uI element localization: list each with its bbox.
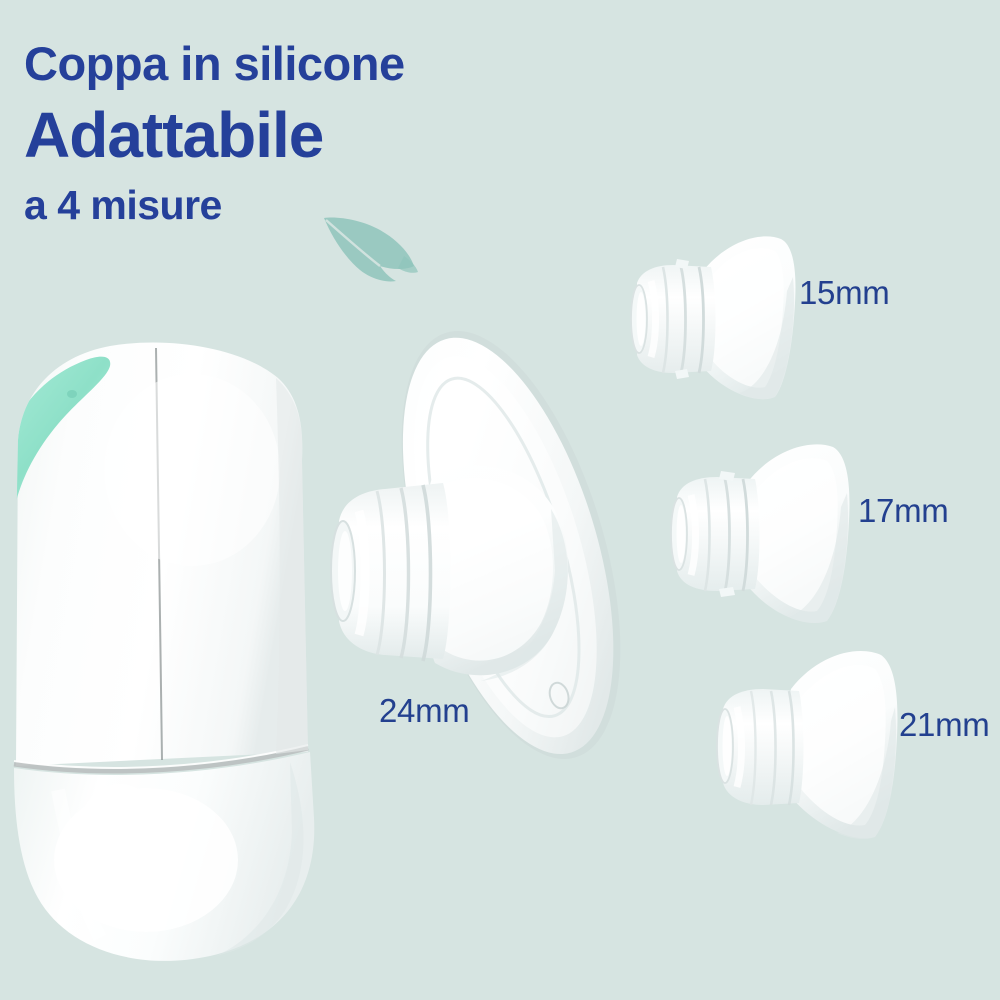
size-label-17mm: 17mm: [858, 492, 949, 530]
headline-block: Coppa in silicone Adattabile a 4 misure: [24, 40, 644, 226]
silicone-insert-15mm: [615, 225, 820, 415]
feather-icon: [318, 208, 426, 286]
product-feature-image: Coppa in silicone Adattabile a 4 misure: [0, 0, 1000, 1000]
silicone-insert-21mm: [705, 645, 925, 845]
size-label-21mm: 21mm: [899, 706, 990, 744]
headline-line-1: Coppa in silicone: [24, 40, 644, 87]
size-label-15mm: 15mm: [799, 274, 890, 312]
breast-pump-body: [0, 320, 360, 970]
silicone-flange-24mm: [315, 295, 655, 805]
silicone-insert-17mm: [655, 435, 880, 635]
headline-line-2: Adattabile: [24, 103, 644, 167]
size-label-24mm: 24mm: [379, 692, 470, 730]
